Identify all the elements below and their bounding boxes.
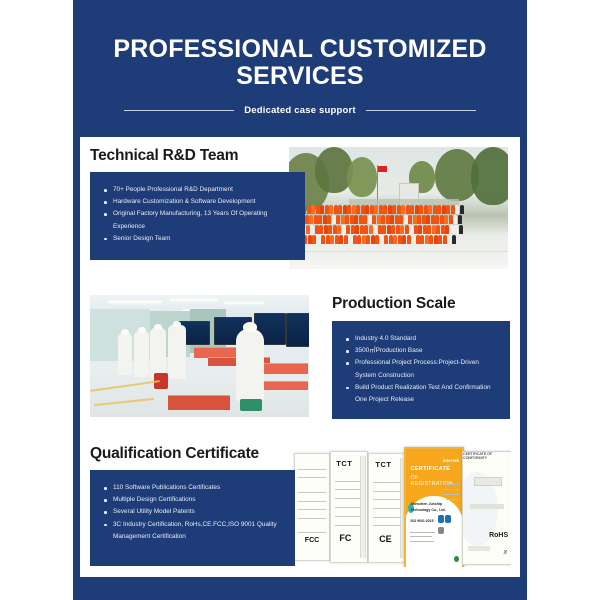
certificate-standard: ISO 9001:2015 bbox=[410, 519, 433, 523]
list-item: Several Utility Model Patents bbox=[104, 506, 283, 518]
certificate-title: CERTIFICATE OF CONFORMITY bbox=[463, 452, 511, 460]
certificate-fcc-1: FCC bbox=[294, 453, 330, 561]
section-heading-qualification-certificate: Qualification Certificate bbox=[90, 445, 259, 463]
certificate-title: CERTIFICATE bbox=[410, 466, 450, 472]
certificate-rohs: CERTIFICATE OF CONFORMITY RoHS x bbox=[462, 451, 511, 565]
section-qualification-certificate: FCC TCT FC TCT CE bbox=[80, 437, 520, 577]
section-technical-rd-team: Technical R&D Team 70+ People Profession… bbox=[80, 137, 520, 277]
certificates-photo: FCC TCT FC TCT CE bbox=[292, 445, 511, 567]
poster-header: PROFESSIONAL CUSTOMIZED SERVICES Dedicat… bbox=[73, 0, 527, 137]
page-title: PROFESSIONAL CUSTOMIZED SERVICES bbox=[73, 36, 527, 90]
certificate-mark: FC bbox=[330, 533, 367, 543]
certificate-company: Shenzhen Junchip Technology Co., Ltd. bbox=[410, 501, 462, 513]
content-panel: Technical R&D Team 70+ People Profession… bbox=[80, 137, 520, 577]
list-item: Original Factory Manufacturing, 13 Years… bbox=[104, 208, 293, 232]
certificate-tct-ce: TCT CE bbox=[368, 453, 408, 563]
bullet-box-qualification-certificate: 110 Software Publications Certificates M… bbox=[90, 470, 295, 566]
bullet-box-technical-rd-team: 70+ People Professional R&D Department H… bbox=[90, 172, 305, 260]
factory-photo bbox=[90, 295, 309, 417]
list-item: 70+ People Professional R&D Department bbox=[104, 184, 293, 196]
certificate-mark: FCC bbox=[295, 537, 329, 544]
group-photo bbox=[289, 147, 508, 269]
certificate-mark: RoHS bbox=[489, 532, 508, 539]
list-item: Industry 4.0 Standard bbox=[346, 333, 498, 345]
list-item: Build Product Realization Test And Confi… bbox=[346, 382, 498, 406]
certificate-tct-fc: TCT FC bbox=[330, 451, 368, 563]
page-subtitle: Dedicated case support bbox=[244, 105, 356, 116]
list-item: 110 Software Publications Certificates bbox=[104, 482, 283, 494]
section-production-scale: Production Scale Industry 4.0 Standard 3… bbox=[80, 285, 520, 430]
list-item: Hardware Customization & Software Develo… bbox=[104, 196, 293, 208]
signature: x bbox=[504, 549, 508, 556]
section-heading-production-scale: Production Scale bbox=[332, 295, 455, 313]
list-item: 3500㎡Production Base bbox=[346, 345, 498, 357]
bullet-box-production-scale: Industry 4.0 Standard 3500㎡Production Ba… bbox=[332, 321, 510, 419]
section-heading-technical-rd-team: Technical R&D Team bbox=[90, 147, 238, 165]
certificate-iso-registration: intertek CERTIFICATE OF REGISTRATION She… bbox=[404, 447, 464, 567]
poster-page: PROFESSIONAL CUSTOMIZED SERVICES Dedicat… bbox=[0, 0, 600, 600]
subtitle-row: Dedicated case support bbox=[73, 101, 527, 119]
certificate-mark: CE bbox=[368, 534, 407, 544]
certificate-logo: intertek bbox=[443, 458, 460, 463]
list-item: Professional Project Process:Project-Dri… bbox=[346, 357, 498, 381]
subtitle-rule-right bbox=[366, 110, 476, 111]
subtitle-rule-left bbox=[124, 110, 234, 111]
list-item: Senior Design Team bbox=[104, 233, 293, 245]
list-item: Multiple Design Certifications bbox=[104, 494, 283, 506]
list-item: 3C Industry Certification, RoHs,CE.FCC,I… bbox=[104, 519, 283, 543]
